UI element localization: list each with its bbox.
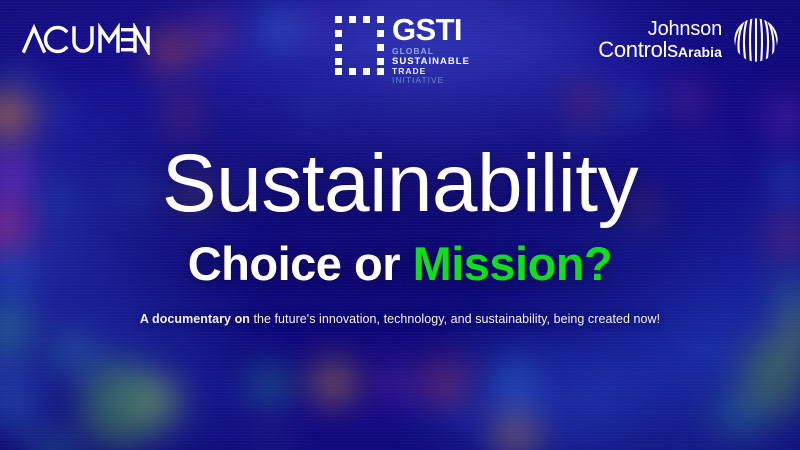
page-tagline: A documentary on the future's innovation… xyxy=(0,312,800,326)
tagline-rest: the future's innovation, technology, and… xyxy=(250,312,660,326)
page-subtitle: Choice or Mission? xyxy=(0,240,800,287)
subtitle-accent: Mission? xyxy=(413,237,613,290)
hero-block: Sustainability Choice or Mission? A docu… xyxy=(0,0,800,450)
tagline-bold: A documentary on xyxy=(140,312,250,326)
page-title: Sustainability xyxy=(0,143,800,225)
poster-canvas: ACUMEN xyxy=(0,0,800,450)
subtitle-plain: Choice or xyxy=(188,237,413,290)
